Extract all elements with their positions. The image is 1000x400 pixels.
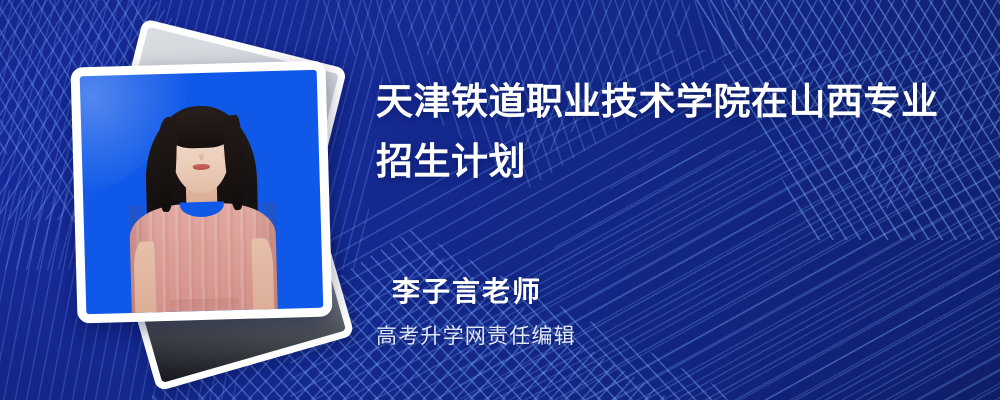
banner-text-column: 天津铁道职业技术学院在山西专业招生计划 李子言老师 高考升学网责任编辑 [376,0,966,400]
portrait-nose [198,151,203,159]
article-header-banner: 天津铁道职业技术学院在山西专业招生计划 李子言老师 高考升学网责任编辑 [0,0,1000,400]
portrait-dress-waist [169,298,240,312]
author-name: 李子言老师 [392,270,542,310]
photo-card-front [70,60,332,323]
author-portrait-photo [80,70,324,315]
portrait-illustration [80,70,324,315]
photo-stack [62,38,352,368]
author-role: 高考升学网责任编辑 [376,320,576,350]
page-title: 天津铁道职业技术学院在山西专业招生计划 [376,72,954,192]
portrait-arm-left [133,241,156,313]
